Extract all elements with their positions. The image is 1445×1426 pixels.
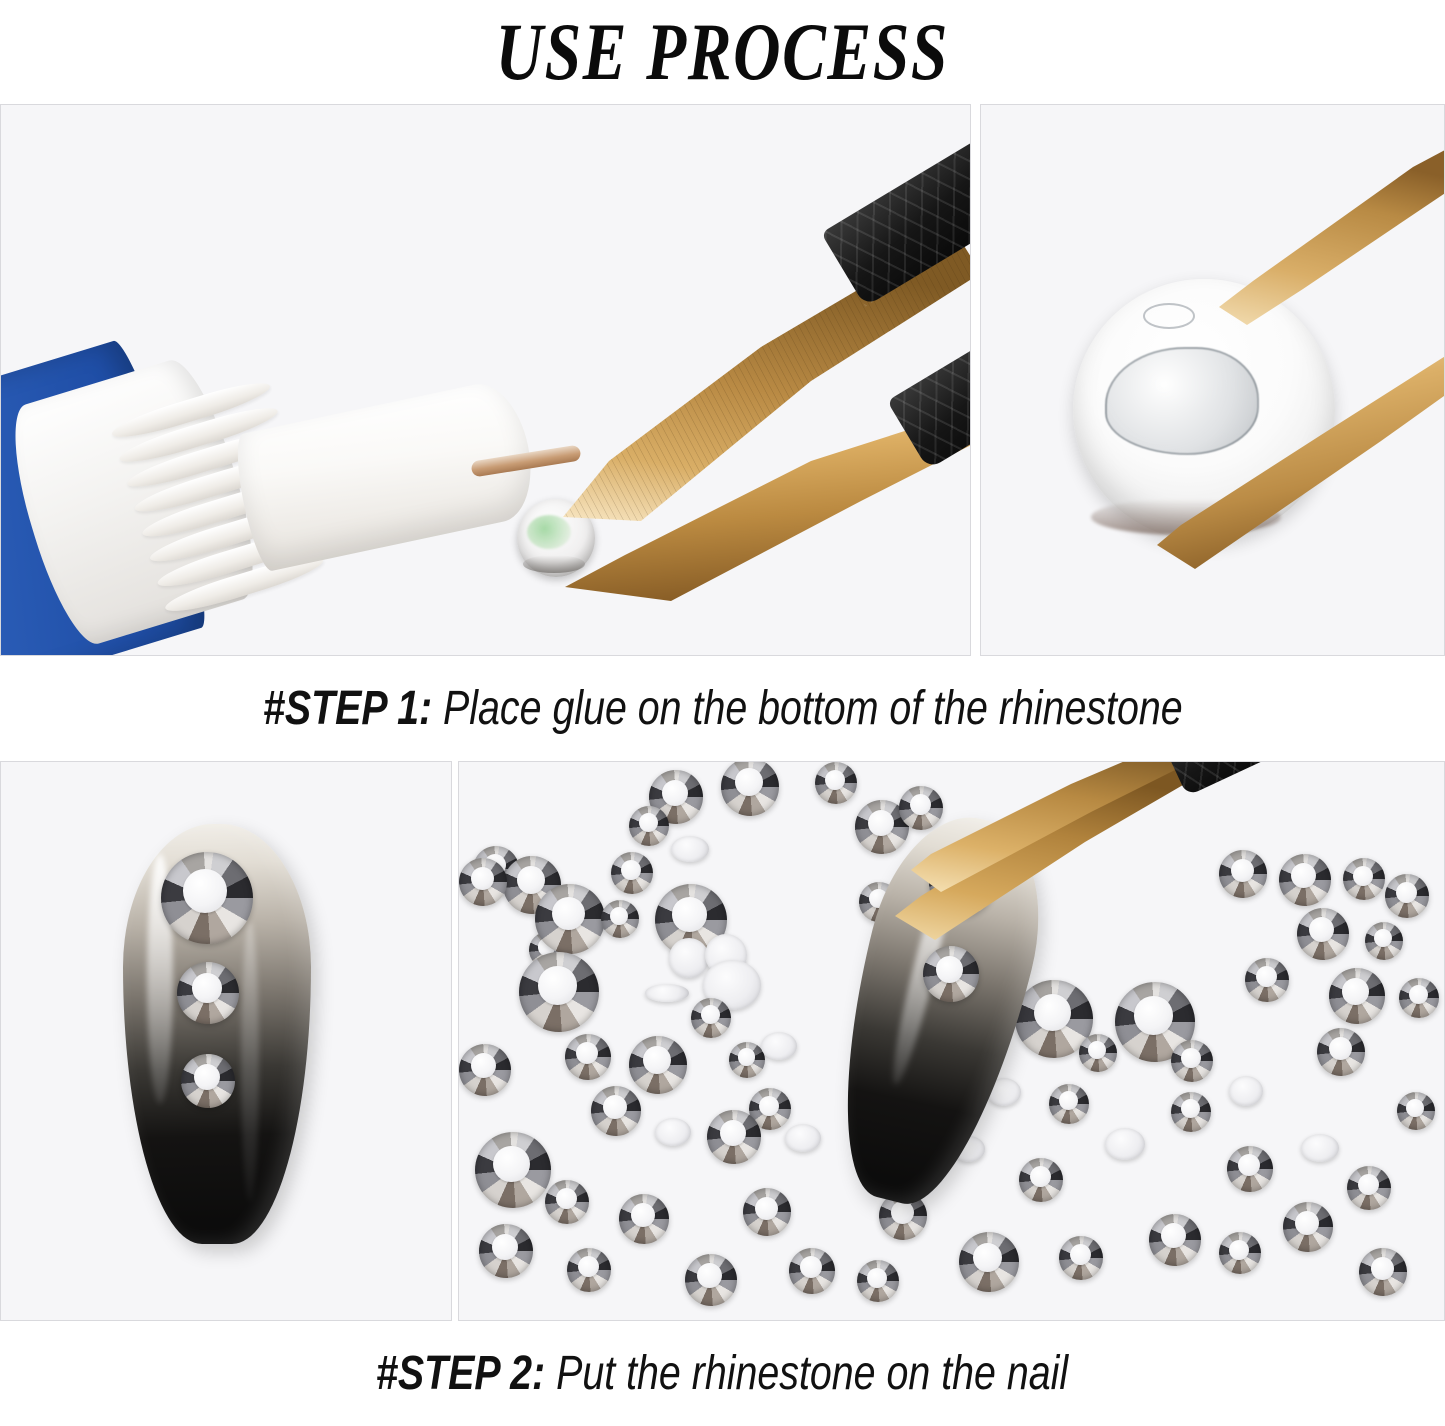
scattered-rhinestone <box>601 900 639 938</box>
scattered-rhinestone <box>567 1248 611 1292</box>
rhinestone-closeup-photo <box>980 104 1445 656</box>
scattered-rhinestone <box>479 1224 533 1278</box>
scattered-rhinestone <box>1329 968 1385 1024</box>
tweezer-lower-arm-placing <box>911 761 1211 902</box>
nail-rhinestone-large <box>161 852 253 944</box>
decorated-nail-photo <box>0 761 452 1321</box>
step-2-image-row <box>0 761 1445 1321</box>
scattered-rhinestone <box>857 1260 899 1302</box>
scattered-rhinestone-flat <box>761 1032 797 1060</box>
scattered-rhinestone <box>959 1232 1019 1292</box>
scattered-rhinestone <box>1317 1028 1365 1076</box>
scattered-rhinestone <box>545 1180 589 1224</box>
scattered-rhinestone-flat <box>785 1124 821 1152</box>
step-2-label: #STEP 2: <box>376 1347 545 1400</box>
scattered-rhinestone <box>1219 850 1267 898</box>
scattered-rhinestone <box>685 1254 737 1306</box>
scattered-rhinestone <box>691 998 731 1038</box>
step-1-image-row <box>0 104 1445 656</box>
scattered-rhinestone <box>1079 1034 1117 1072</box>
nail-rhinestone-small <box>181 1054 235 1108</box>
scattered-rhinestone <box>1359 1248 1407 1296</box>
scattered-rhinestone <box>707 1110 761 1164</box>
scattered-rhinestone <box>591 1086 641 1136</box>
scattered-rhinestone <box>629 806 669 846</box>
scattered-rhinestone <box>1365 922 1403 960</box>
scattered-rhinestone <box>1385 874 1429 918</box>
step-2-caption: #STEP 2: Put the rhinestone on the nail <box>0 1321 1445 1426</box>
scattered-rhinestone <box>743 1188 791 1236</box>
scattered-rhinestone <box>1279 854 1331 906</box>
scattered-rhinestone <box>459 1044 511 1096</box>
scattered-rhinestone <box>721 761 779 816</box>
scattered-rhinestone <box>459 858 507 906</box>
scattered-rhinestone <box>1171 1040 1213 1082</box>
scattered-rhinestone-flat <box>655 1118 691 1146</box>
scattered-rhinestone <box>815 762 857 804</box>
scattered-rhinestone <box>611 852 653 894</box>
scattered-rhinestone <box>535 884 605 954</box>
scattered-rhinestone <box>1227 1146 1273 1192</box>
nail-rhinestone-medium <box>177 962 239 1024</box>
scattered-rhinestone <box>1245 958 1289 1002</box>
scattered-rhinestone <box>1283 1202 1333 1252</box>
page-header: USE PROCESS <box>0 0 1445 104</box>
scattered-rhinestone <box>1049 1084 1089 1124</box>
scattered-rhinestone-flat <box>1229 1076 1263 1106</box>
scattered-rhinestone <box>1149 1214 1201 1266</box>
scattered-rhinestone <box>1219 1232 1261 1274</box>
scattered-rhinestone-flat <box>645 984 689 1002</box>
scattered-rhinestone-flat <box>671 836 709 862</box>
scattered-rhinestone <box>629 1036 687 1094</box>
scattered-rhinestone <box>1297 908 1349 960</box>
tweezer-lower-arm-closeup <box>1151 345 1445 575</box>
scattered-rhinestone <box>1019 1158 1063 1202</box>
scattered-rhinestone <box>519 952 599 1032</box>
scattered-rhinestone <box>475 1132 551 1208</box>
scattered-rhinestone <box>619 1194 669 1244</box>
scattered-rhinestone <box>1171 1092 1211 1132</box>
step-1-caption: #STEP 1: Place glue on the bottom of the… <box>0 656 1445 761</box>
scattered-rhinestone <box>565 1034 611 1080</box>
glue-on-rhinestone-photo <box>0 104 971 656</box>
scattered-rhinestone-flat <box>1105 1128 1145 1160</box>
step-1-text: Place glue on the bottom of the rhinesto… <box>443 682 1183 735</box>
scattered-rhinestone <box>1397 1092 1435 1130</box>
scattered-rhinestone-flat <box>1301 1134 1339 1162</box>
glue-bottle-nozzle <box>230 376 543 573</box>
scattered-rhinestone <box>1343 858 1385 900</box>
scattered-rhinestone <box>1347 1166 1391 1210</box>
rhinestones-and-nail-photo <box>458 761 1445 1321</box>
scattered-rhinestone <box>1399 978 1439 1018</box>
scattered-rhinestone <box>1059 1236 1103 1280</box>
step-2-text: Put the rhinestone on the nail <box>557 1347 1069 1400</box>
step-1-label: #STEP 1: <box>263 682 432 735</box>
scattered-rhinestone <box>729 1042 765 1078</box>
scattered-rhinestone-flat <box>669 938 709 978</box>
page-title: USE PROCESS <box>496 11 949 93</box>
nail-highlight-secondary <box>241 922 259 1202</box>
tweezer-upper-arm-closeup <box>1213 129 1445 329</box>
scattered-rhinestone <box>789 1248 835 1294</box>
